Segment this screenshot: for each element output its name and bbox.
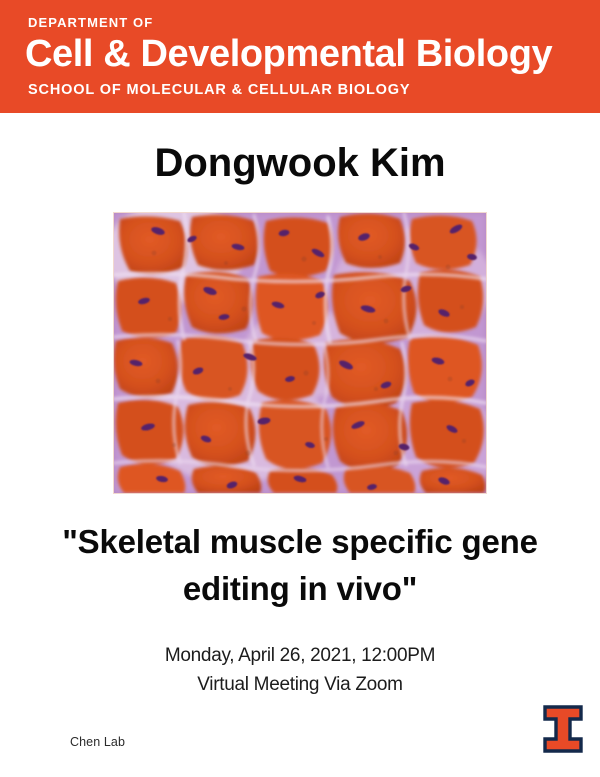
event-details: Monday, April 26, 2021, 12:00PM Virtual …	[0, 641, 600, 700]
lab-credit: Chen Lab	[70, 736, 125, 749]
talk-title: "Skeletal muscle specific gene editing i…	[30, 519, 570, 613]
event-datetime: Monday, April 26, 2021, 12:00PM	[0, 641, 600, 670]
speaker-name: Dongwook Kim	[0, 141, 600, 185]
banner-school-name: SCHOOL OF MOLECULAR & CELLULAR BIOLOGY	[28, 83, 410, 98]
muscle-histology-image	[114, 213, 486, 493]
illinois-block-i-logo	[541, 704, 585, 754]
block-i-icon	[541, 704, 585, 754]
event-location: Virtual Meeting Via Zoom	[0, 670, 600, 699]
banner-eyebrow-text: DEPARTMENT OF	[28, 16, 153, 29]
department-banner: DEPARTMENT OF Cell & Developmental Biolo…	[0, 0, 600, 113]
micrograph-figure	[113, 212, 487, 494]
banner-department-name: Cell & Developmental Biology	[25, 34, 552, 75]
